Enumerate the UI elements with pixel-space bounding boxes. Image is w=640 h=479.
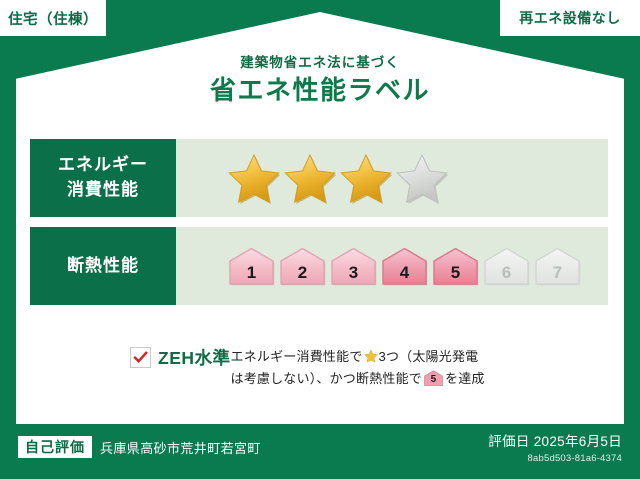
row-energy-consumption-label-line2: 消費性能 xyxy=(67,180,139,199)
label-title: 建築物省エネ法に基づく 省エネ性能ラベル xyxy=(0,55,640,106)
label-footer: 自己評価 兵庫県高砂市荒井町若宮町 評価日 2025年6月5日 8ab5d503… xyxy=(0,424,640,479)
evaluation-id: 8ab5d503-81a6-4374 xyxy=(488,453,622,464)
insulation-grade-value: 2 xyxy=(279,264,326,281)
renewable-equipment-tag-label: 再エネ設備なし xyxy=(519,8,621,28)
insulation-grade-inline-value: 5 xyxy=(424,375,443,385)
zeh-checkbox[interactable] xyxy=(130,347,151,368)
insulation-grade-badge: 3 xyxy=(330,246,377,286)
check-icon xyxy=(133,350,148,365)
insulation-grade-badge: 2 xyxy=(279,246,326,286)
self-evaluation-badge: 自己評価 xyxy=(18,436,92,458)
insulation-grade-badge: 1 xyxy=(228,246,275,286)
star-icon-filled xyxy=(284,152,336,204)
row-insulation-label-line1: 断熱性能 xyxy=(67,254,139,279)
row-insulation-label: 断熱性能 xyxy=(30,227,176,305)
building-type-tag: 住宅（住棟） xyxy=(0,0,106,36)
insulation-grade-value: 4 xyxy=(381,264,428,281)
row-energy-consumption-label: エネルギー 消費性能 xyxy=(30,139,176,217)
row-energy-consumption: エネルギー 消費性能 xyxy=(30,139,608,217)
row-insulation-body: 1234567 xyxy=(176,227,608,305)
zeh-description-line2-b: を達成 xyxy=(445,371,485,386)
star-icon-empty xyxy=(396,152,448,204)
zeh-section: ZEH水準 エネルギー消費性能で3つ（太陽光発電 は考慮しない）、かつ断熱性能で… xyxy=(30,345,608,391)
insulation-grade-value: 5 xyxy=(432,264,479,281)
zeh-description-line1-a: エネルギー消費性能で xyxy=(231,349,363,364)
star-icon-filled xyxy=(228,152,280,204)
row-insulation: 断熱性能 1234567 xyxy=(30,227,608,305)
insulation-grade-badge: 6 xyxy=(483,246,530,286)
insulation-grade-value: 7 xyxy=(534,264,581,281)
zeh-description-line1-b: 3つ（太陽光発電 xyxy=(379,349,479,364)
row-energy-consumption-label-line1: エネルギー xyxy=(58,155,148,174)
insulation-grade-value: 3 xyxy=(330,264,377,281)
zeh-standard-label: ZEH水準 xyxy=(158,345,231,370)
building-type-tag-label: 住宅（住棟） xyxy=(8,8,98,29)
star-icon-inline xyxy=(364,349,378,363)
building-address: 兵庫県高砂市荒井町若宮町 xyxy=(100,438,261,457)
rating-rows: エネルギー 消費性能 断熱性能 1234567 xyxy=(30,139,608,315)
insulation-grade-value: 6 xyxy=(483,264,530,281)
footer-right: 評価日 2025年6月5日 8ab5d503-81a6-4374 xyxy=(488,430,622,464)
star-icon-filled xyxy=(340,152,392,204)
title-subtitle: 建築物省エネ法に基づく xyxy=(0,55,640,71)
insulation-grade-value: 1 xyxy=(228,264,275,281)
title-main: 省エネ性能ラベル xyxy=(0,76,640,106)
evaluation-date: 評価日 2025年6月5日 xyxy=(488,430,622,450)
energy-performance-label: 住宅（住棟） 再エネ設備なし 建築物省エネ法に基づく 省エネ性能ラベル エネルギ… xyxy=(0,0,640,479)
renewable-equipment-tag: 再エネ設備なし xyxy=(500,0,640,36)
insulation-grade-badge: 7 xyxy=(534,246,581,286)
insulation-grade-scale: 1234567 xyxy=(228,246,581,286)
row-energy-consumption-body xyxy=(176,139,608,217)
star-rating xyxy=(228,152,448,204)
insulation-grade-badge: 4 xyxy=(381,246,428,286)
insulation-grade-badge: 5 xyxy=(432,246,479,286)
zeh-description-line2-a: は考慮しない）、かつ断熱性能で xyxy=(231,371,423,386)
footer-left: 自己評価 兵庫県高砂市荒井町若宮町 xyxy=(18,436,261,458)
insulation-grade-inline-badge: 5 xyxy=(424,370,443,386)
zeh-standard-marker: ZEH水準 xyxy=(30,345,231,370)
zeh-description: エネルギー消費性能で3つ（太陽光発電 は考慮しない）、かつ断熱性能で5を達成 xyxy=(231,345,485,391)
